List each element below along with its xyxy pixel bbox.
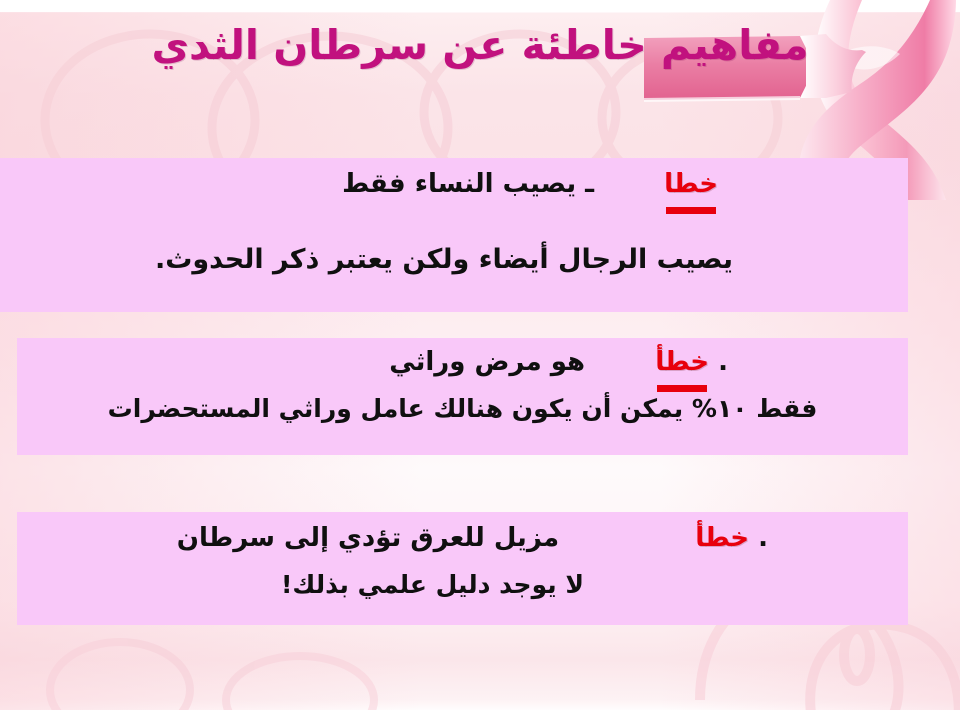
myth-2-statement: هو مرض وراثي (389, 347, 585, 377)
myth-1-explanation: يصيب الرجال أيضاء ولكن يعتبر ذكر الحدوث. (0, 243, 908, 277)
myth-1-wrong-marker: خطا (664, 168, 718, 201)
myth-block-3: . خطأ مزيل للعرق تؤدي إلى سرطان لا يوجد … (17, 512, 908, 625)
presentation-slide: مفاهيم خاطئة عن سرطان الثدي خطا ـ يصيب ا… (0, 0, 960, 720)
myth-2-statement-line: . خطأ هو مرض وراثي (17, 346, 908, 379)
slide-title-band: مفاهيم خاطئة عن سرطان الثدي (0, 0, 960, 96)
myth-3-marker-period: . (758, 523, 768, 553)
myth-2-wrong-marker: خطأ (655, 346, 709, 379)
myth-1-statement-line: خطا ـ يصيب النساء فقط (0, 168, 908, 201)
content-blocks: خطا ـ يصيب النساء فقط يصيب الرجال أيضاء … (0, 0, 960, 720)
myth-block-1: خطا ـ يصيب النساء فقط يصيب الرجال أيضاء … (0, 158, 908, 312)
myth-3-wrong-marker: خطأ (695, 522, 749, 555)
myth-3-statement-line: . خطأ مزيل للعرق تؤدي إلى سرطان (17, 522, 908, 555)
myth-1-statement: ـ يصيب النساء فقط (342, 169, 594, 199)
myth-3-statement: مزيل للعرق تؤدي إلى سرطان (177, 523, 559, 553)
myth-2-explanation: فقط ١٠% يمكن أن يكون هنالك عامل وراثي ال… (17, 393, 908, 424)
slide-title: مفاهيم خاطئة عن سرطان الثدي (151, 23, 808, 72)
myth-block-2: . خطأ هو مرض وراثي فقط ١٠% يمكن أن يكون … (17, 338, 908, 455)
myth-3-explanation: لا يوجد دليل علمي بذلك! (17, 569, 908, 600)
myth-2-marker-period: . (718, 347, 728, 377)
